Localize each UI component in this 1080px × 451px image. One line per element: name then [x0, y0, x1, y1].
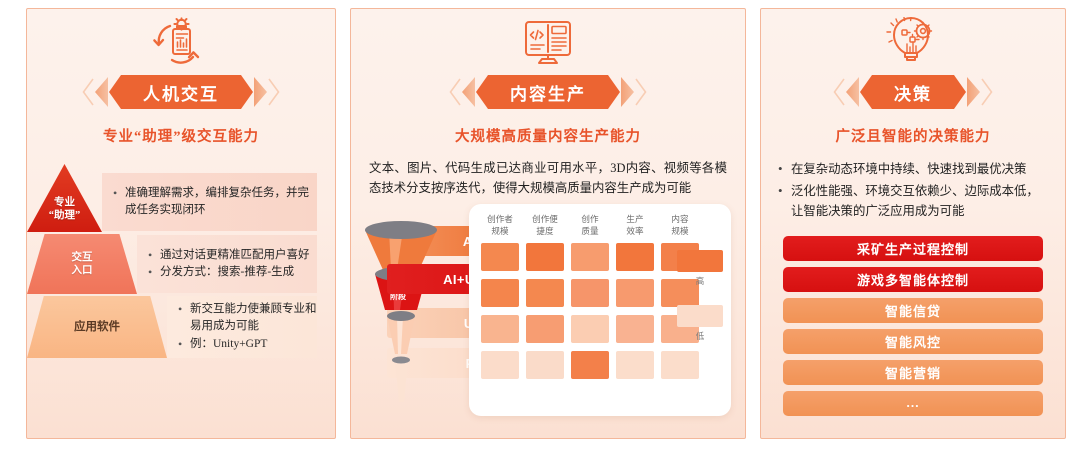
chevron-right-icon — [967, 77, 980, 107]
pyramid-tier-2: 交互 入口 通过对话更精准匹配用户喜好 分发方式：搜索-推荐-生成 — [27, 234, 317, 294]
heatmap-cell — [616, 315, 654, 343]
pill-more[interactable]: … — [783, 391, 1043, 416]
pyramid-tier-1-label: 专业 “助理” — [27, 164, 102, 232]
list-item: 例：Unity+GPT — [177, 336, 317, 353]
pill-mining-control[interactable]: 采矿生产过程控制 — [783, 236, 1043, 261]
heatmap-cell — [481, 351, 519, 379]
heatmap-cell — [571, 315, 609, 343]
pill-smart-credit[interactable]: 智能信贷 — [783, 298, 1043, 323]
chevron-outline-left-icon — [448, 77, 462, 107]
heatmap-cell — [571, 243, 609, 271]
panel-title: 决策 — [894, 80, 932, 105]
column-header: 内容规模 — [661, 214, 699, 237]
tier-label-line: 交互 — [72, 251, 93, 264]
list-item: 在复杂动态环境中持续、快速找到最优决策 — [775, 160, 1051, 180]
list-item: 准确理解需求，编排复杂任务，并完成任务实现闭环 — [112, 185, 317, 220]
list-item: 分发方式：搜索-推荐-生成 — [147, 264, 310, 281]
pyramid-tier-1-band: 准确理解需求，编排复杂任务，并完成任务实现闭环 — [102, 173, 317, 231]
column-header: 创作者规模 — [481, 214, 519, 237]
chevron-right-icon — [254, 77, 267, 107]
column-header: 创作质量 — [571, 214, 609, 237]
chevron-outline-left-icon — [81, 77, 95, 107]
panel-subtitle: 大规模高质量内容生产能力 — [351, 125, 745, 146]
heatmap-cell — [571, 351, 609, 379]
pyramid-tier-3: 应用软件 新交互能力使兼顾专业和易用成为可能 例：Unity+GPT — [27, 296, 317, 358]
tier-label-line: 入口 — [72, 264, 93, 277]
list-item: 泛化性能强、环境交互依赖少、边际成本低，让智能决策的广泛应用成为可能 — [775, 182, 1051, 222]
heatmap-cell — [526, 315, 564, 343]
clipboard-gear-refresh-icon — [27, 13, 335, 71]
panel-paragraph: 文本、图片、代码生成已达商业可用水平，3D内容、视频等各模态技术分支按序迭代，使… — [369, 158, 727, 198]
legend-swatch-low — [677, 305, 723, 327]
heatmap-cell — [481, 279, 519, 307]
banner-human-machine-interaction: 人机交互 — [45, 75, 317, 109]
heatmap-cell — [616, 243, 654, 271]
tier-label-line: 专业 — [54, 196, 75, 209]
panel-human-machine-interaction: 人机交互 专业“助理”级交互能力 专业 “助理” 准确理解需求，编排复杂任务，并… — [26, 8, 336, 439]
heatmap-cell — [571, 279, 609, 307]
banner-core: 人机交互 — [109, 75, 253, 109]
decision-bullets: 在复杂动态环境中持续、快速找到最优决策 泛化性能强、环境交互依赖少、边际成本低，… — [775, 160, 1051, 222]
panel-title: 内容生产 — [510, 80, 586, 105]
heatmap-cell — [526, 279, 564, 307]
banner-core: 决策 — [860, 75, 966, 109]
pyramid-tier-2-band: 通过对话更精准匹配用户喜好 分发方式：搜索-推荐-生成 — [137, 235, 317, 293]
pill-game-multiagent[interactable]: 游戏多智能体控制 — [783, 267, 1043, 292]
pyramid-tier-2-label: 交互 入口 — [27, 234, 137, 294]
heatmap-cell — [481, 243, 519, 271]
heatmap-column-headers: 创作者规模 创作便捷度 创作质量 生产效率 内容规模 — [481, 214, 721, 237]
chevron-outline-right-icon — [980, 77, 994, 107]
pill-smart-marketing[interactable]: 智能营销 — [783, 360, 1043, 385]
banner-content-production: 内容生产 — [369, 75, 727, 109]
chevron-right-icon — [621, 77, 634, 107]
chevron-outline-right-icon — [267, 77, 281, 107]
heatmap-cell — [616, 279, 654, 307]
chevron-outline-right-icon — [634, 77, 648, 107]
column-header: 生产效率 — [616, 214, 654, 237]
banner-decision: 决策 — [779, 75, 1047, 109]
monitor-code-icon — [351, 13, 745, 71]
panel-subtitle: 专业“助理”级交互能力 — [27, 125, 335, 146]
content-production-visual: AIGC AI+UGC UGC PGC 当前 阶段 — [351, 204, 745, 419]
decision-application-list: 采矿生产过程控制 游戏多智能体控制 智能信贷 智能风控 智能营销 … — [783, 236, 1043, 416]
legend-label-low: 低 — [677, 330, 723, 342]
tier-label-line: “助理” — [49, 209, 81, 222]
list-item: 新交互能力使兼顾专业和易用成为可能 — [177, 301, 317, 336]
chevron-left-icon — [95, 77, 108, 107]
pyramid-tier-3-band: 新交互能力使兼顾专业和易用成为可能 例：Unity+GPT — [167, 296, 317, 358]
column-header: 创作便捷度 — [526, 214, 564, 237]
chevron-left-icon — [462, 77, 475, 107]
heatmap-cell — [526, 243, 564, 271]
pyramid-tier-3-label: 应用软件 — [27, 296, 167, 358]
panel-title: 人机交互 — [143, 80, 219, 105]
chevron-outline-left-icon — [832, 77, 846, 107]
heatmap-card: 创作者规模 创作便捷度 创作质量 生产效率 内容规模 — [469, 204, 731, 416]
heatmap-legend: 高 低 — [677, 250, 723, 360]
lightbulb-gear-icon — [761, 13, 1065, 71]
pyramid-chart: 专业 “助理” 准确理解需求，编排复杂任务，并完成任务实现闭环 交互 入口 通过… — [27, 164, 335, 359]
banner-core: 内容生产 — [476, 75, 620, 109]
list-item: 通过对话更精准匹配用户喜好 — [147, 247, 310, 264]
chevron-left-icon — [846, 77, 859, 107]
heatmap-cell — [526, 351, 564, 379]
legend-swatch-high — [677, 250, 723, 272]
legend-label-high: 高 — [677, 275, 723, 287]
pill-smart-riskcontrol[interactable]: 智能风控 — [783, 329, 1043, 354]
panel-subtitle: 广泛且智能的决策能力 — [761, 125, 1065, 146]
funnel-3d-shape: 当前 阶段 — [359, 212, 449, 412]
infographic-root: 人机交互 专业“助理”级交互能力 专业 “助理” 准确理解需求，编排复杂任务，并… — [0, 0, 1080, 451]
panel-content-production: 内容生产 大规模高质量内容生产能力 文本、图片、代码生成已达商业可用水平，3D内… — [350, 8, 746, 439]
pyramid-tier-1: 专业 “助理” 准确理解需求，编排复杂任务，并完成任务实现闭环 — [27, 164, 317, 232]
panel-decision: 决策 广泛且智能的决策能力 在复杂动态环境中持续、快速找到最优决策 泛化性能强、… — [760, 8, 1066, 439]
tier-label-line: 应用软件 — [74, 320, 120, 334]
heatmap-cell — [616, 351, 654, 379]
heatmap-cell — [481, 315, 519, 343]
